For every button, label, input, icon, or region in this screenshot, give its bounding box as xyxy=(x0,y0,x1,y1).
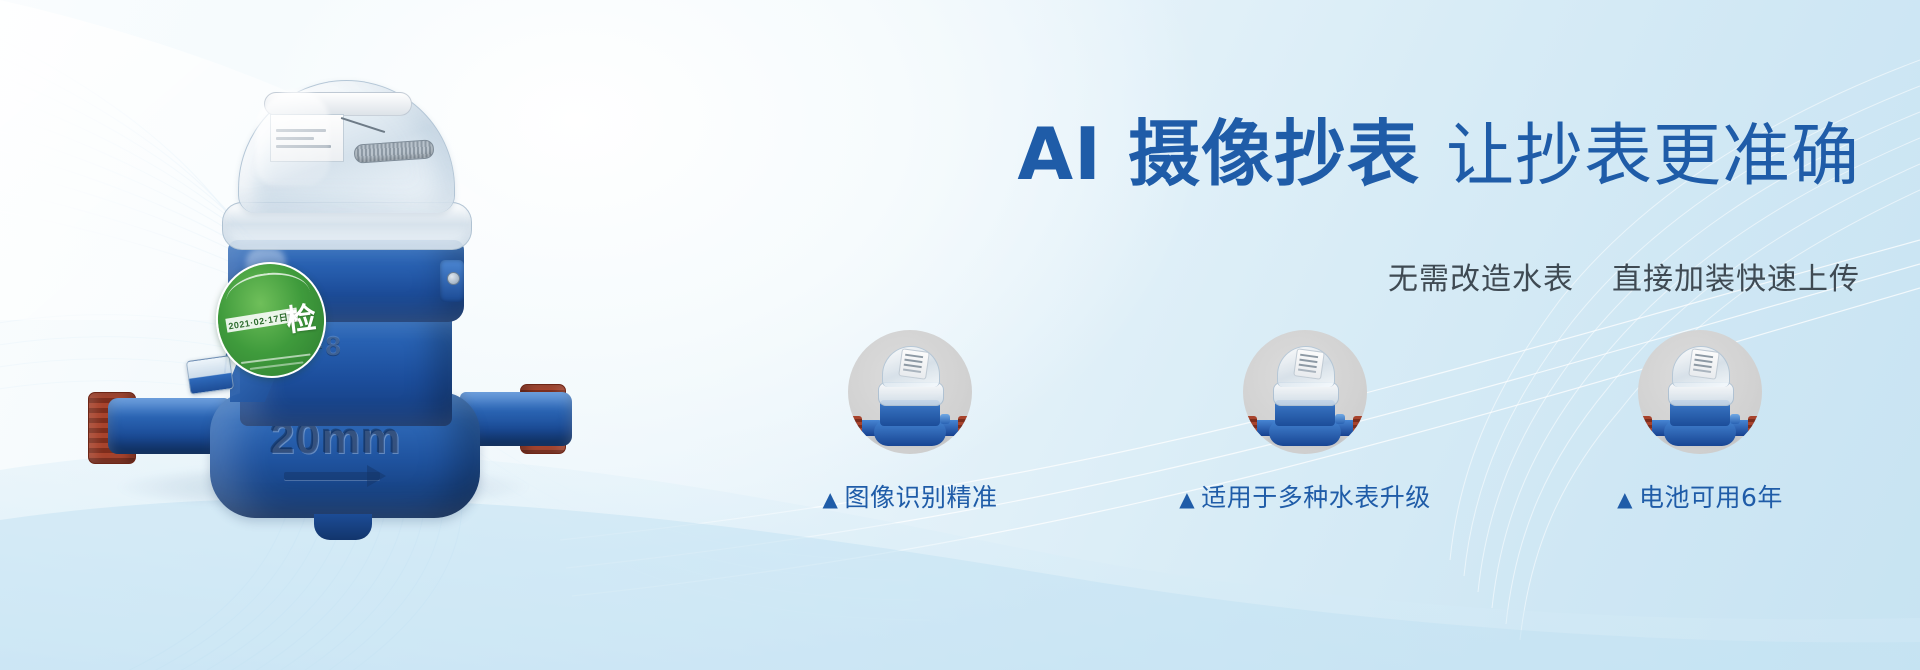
thumb-sensor-nub xyxy=(940,414,950,424)
banner-subtitle: 无需改造水表直接加装快速上传 xyxy=(700,254,1860,298)
headline-primary: AI 摄像抄表 xyxy=(1017,112,1420,196)
camera-module-icon xyxy=(186,355,234,395)
triangle-marker-icon: ▲ xyxy=(823,487,839,511)
subtitle-part-1: 无需改造水表 xyxy=(1388,262,1574,297)
subtitle-part-2: 直接加装快速上传 xyxy=(1612,262,1860,297)
promo-banner: 20mm NF8 2021·02·17日 检 xyxy=(0,0,1920,670)
thumb-thread-right xyxy=(1353,416,1365,440)
feature-item[interactable]: ▲电池可用6年 xyxy=(1540,330,1860,514)
thumb-thread-right xyxy=(1748,416,1760,440)
feature-label: 电池可用6年 xyxy=(1639,483,1783,512)
thumb-spec-label xyxy=(1688,348,1720,380)
triangle-marker-icon: ▲ xyxy=(1179,487,1195,511)
cap-screw-icon xyxy=(440,260,464,302)
seal-line-2 xyxy=(250,361,304,370)
thumb-sensor-nub xyxy=(1335,414,1345,424)
headline-secondary: 让抄表更准确 xyxy=(1446,117,1860,196)
thumb-thread-left xyxy=(1640,416,1652,440)
thumb-thread-right xyxy=(958,416,970,440)
feature-label: 图像识别精准 xyxy=(844,483,997,512)
dome-gloss xyxy=(256,90,330,186)
feature-caption: ▲适用于多种水表升级 xyxy=(1179,478,1430,514)
triangle-marker-icon: ▲ xyxy=(1617,487,1633,511)
thumb-spec-label xyxy=(898,348,930,380)
feature-caption: ▲图像识别精准 xyxy=(823,478,998,514)
feature-thumbnail-image[interactable] xyxy=(1638,330,1762,454)
banner-headline: AI 摄像抄表让抄表更准确 xyxy=(700,118,1860,191)
thumb-thread-left xyxy=(850,416,862,440)
feature-label: 适用于多种水表升级 xyxy=(1201,483,1431,512)
feature-item[interactable]: ▲图像识别精准 xyxy=(750,330,1070,514)
feature-item[interactable]: ▲适用于多种水表升级 xyxy=(1145,330,1465,514)
banner-content: AI 摄像抄表让抄表更准确 无需改造水表直接加装快速上传 xyxy=(700,0,1920,670)
feature-thumbnail-image[interactable] xyxy=(1243,330,1367,454)
flow-arrow-icon xyxy=(284,472,380,480)
feature-caption: ▲电池可用6年 xyxy=(1617,478,1783,514)
thumb-spec-label xyxy=(1293,348,1325,380)
thumb-sensor-nub xyxy=(1730,414,1740,424)
feature-list: ▲图像识别精准 ▲适用于多种水表升级 xyxy=(750,330,1860,514)
seal-mark-character: 检 xyxy=(283,293,318,340)
thumb-thread-left xyxy=(1245,416,1257,440)
product-image-water-meter: 20mm NF8 2021·02·17日 检 xyxy=(88,62,558,532)
meter-foot xyxy=(314,514,372,540)
feature-thumbnail-image[interactable] xyxy=(848,330,972,454)
